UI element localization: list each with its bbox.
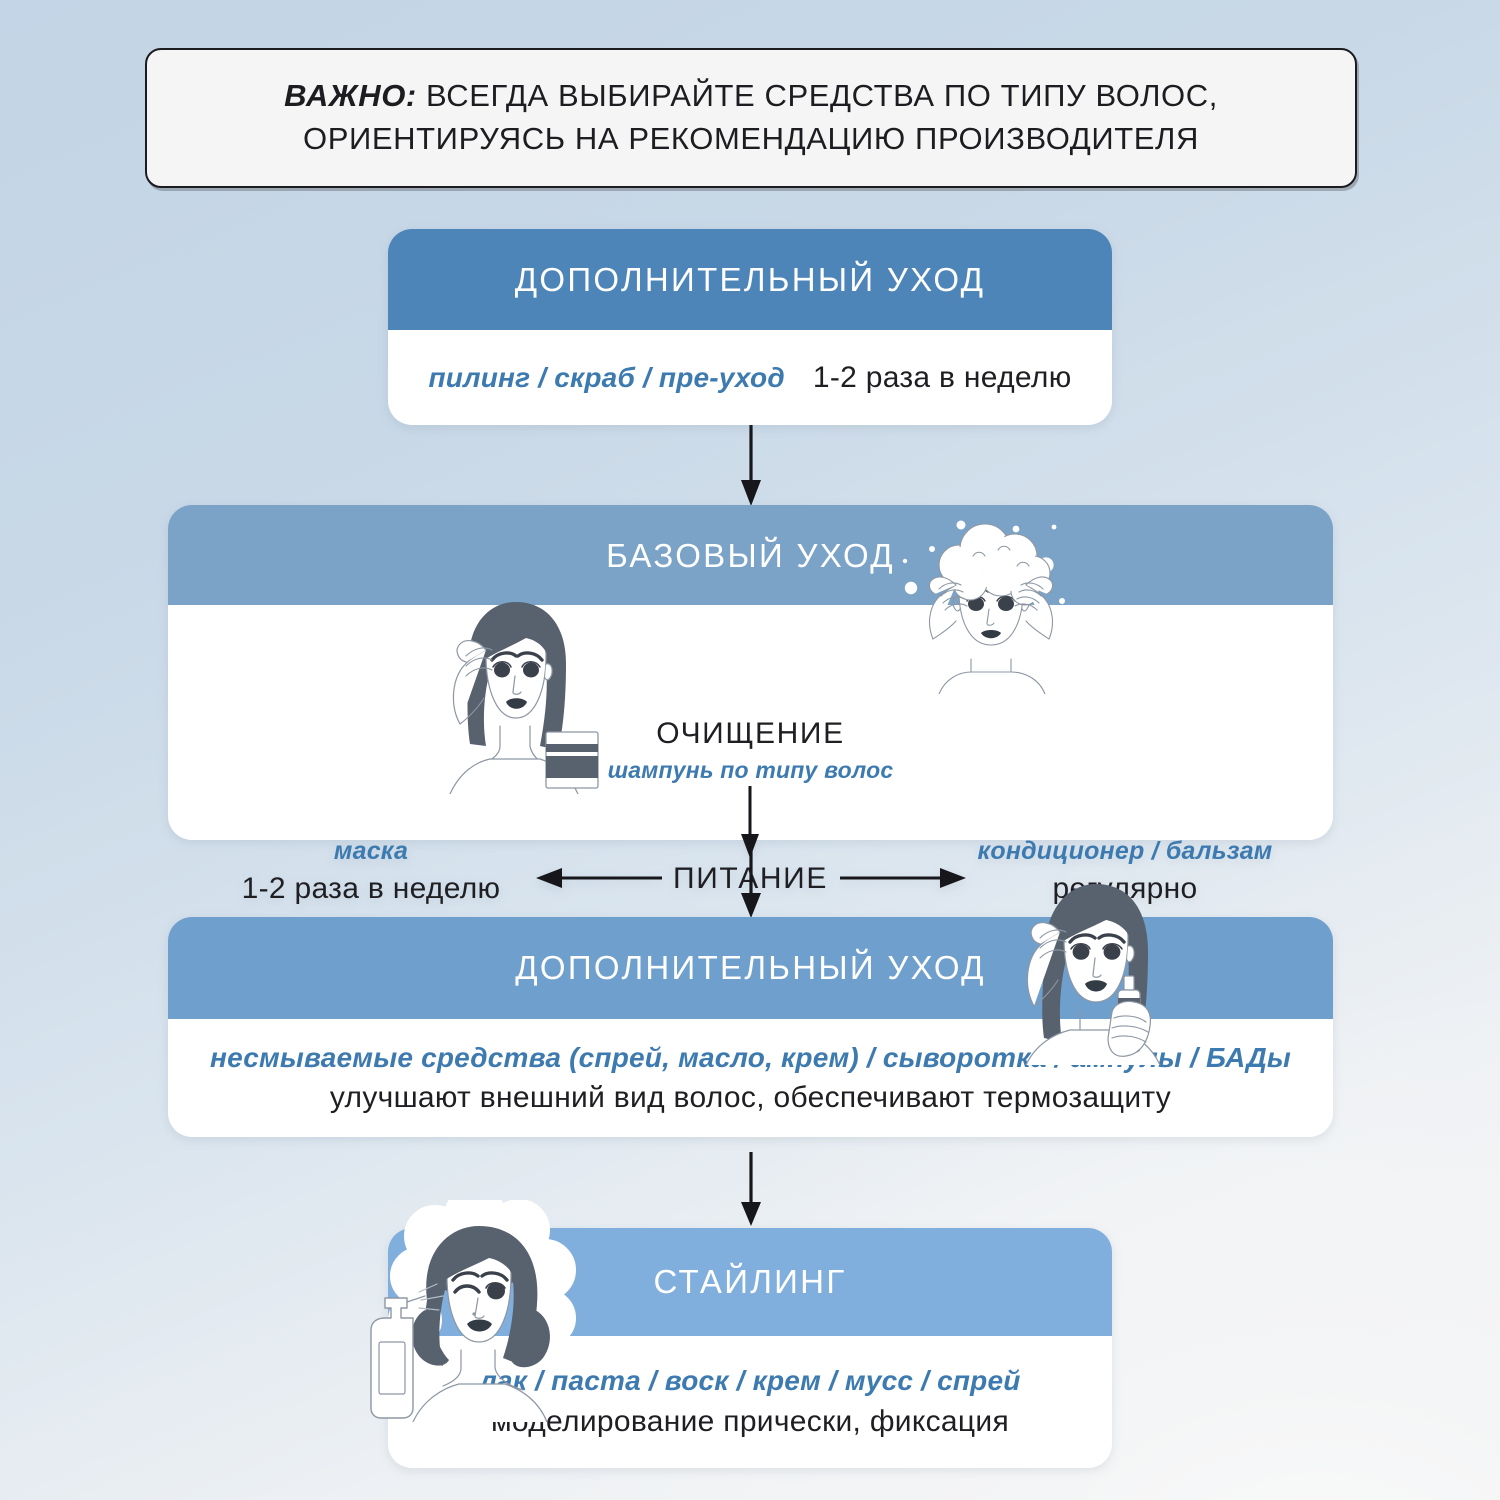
arrow-card2-to-card3 [735,838,767,920]
important-banner: ВАЖНО: ВСЕГДА ВЫБИРАЙТЕ СРЕДСТВА ПО ТИПУ… [145,48,1357,188]
card4-header: СТАЙЛИНГ [388,1228,1112,1336]
card4-body: лак / паста / воск / крем / мусс / спрей… [388,1336,1112,1468]
arrow-card3-to-card4 [735,1152,767,1228]
mask-frequency: 1-2 раза в неделю [206,872,536,906]
card-styling: СТАЙЛИНГ лак / паста / воск / крем / мус… [388,1228,1112,1468]
card2-header: БАЗОВЫЙ УХОД [168,505,1333,605]
card3-products: несмываемые средства (спрей, масло, крем… [210,1042,1291,1074]
card-basic-care: БАЗОВЫЙ УХОД ОЧИЩЕНИЕ шампунь по типу во… [168,505,1333,840]
card-extra-care-top: ДОПОЛНИТЕЛЬНЫЙ УХОД пилинг / скраб / пре… [388,229,1112,425]
cleansing-products: шампунь по типу волос [168,757,1333,784]
card4-description: моделирование прически, фиксация [491,1405,1009,1439]
banner-body-label: ВСЕГДА ВЫБИРАЙТЕ СРЕДСТВА ПО ТИПУ ВОЛОС,… [303,78,1218,156]
banner-text: ВАЖНО: ВСЕГДА ВЫБИРАЙТЕ СРЕДСТВА ПО ТИПУ… [147,75,1355,161]
cleansing-block: ОЧИЩЕНИЕ шампунь по типу волос [168,717,1333,784]
card3-title: ДОПОЛНИТЕЛЬНЫЙ УХОД [515,949,986,987]
conditioner-block: кондиционер / бальзам регулярно [945,837,1305,906]
card2-body: ОЧИЩЕНИЕ шампунь по типу волос ПИТАНИЕ [168,605,1333,840]
mask-products: маска [206,837,536,866]
card1-title: ДОПОЛНИТЕЛЬНЫЙ УХОД [515,261,986,299]
card3-header: ДОПОЛНИТЕЛЬНЫЙ УХОД [168,917,1333,1019]
conditioner-frequency: регулярно [945,872,1305,906]
card4-products: лак / паста / воск / крем / мусс / спрей [479,1365,1020,1397]
banner-lead-label: ВАЖНО: [284,78,417,113]
card2-title: БАЗОВЫЙ УХОД [606,537,895,575]
mask-block: маска 1-2 раза в неделю [206,837,536,906]
card1-frequency: 1-2 раза в неделю [813,361,1072,395]
card-extra-care-bottom: ДОПОЛНИТЕЛЬНЫЙ УХОД несмываемые средства… [168,917,1333,1137]
card3-body: несмываемые средства (спрей, масло, крем… [168,1019,1333,1137]
cleansing-label: ОЧИЩЕНИЕ [168,717,1333,751]
card3-description: улучшают внешний вид волос, обеспечивают… [330,1081,1171,1115]
arrow-card1-to-card2 [735,424,767,508]
arrow-nutrition-to-mask [534,863,662,893]
conditioner-products: кондиционер / бальзам [945,837,1305,866]
card1-body: пилинг / скраб / пре-уход 1-2 раза в нед… [388,330,1112,425]
card1-header: ДОПОЛНИТЕЛЬНЫЙ УХОД [388,229,1112,330]
card4-title: СТАЙЛИНГ [653,1263,846,1301]
card1-products: пилинг / скраб / пре-уход [428,362,784,394]
infographic-canvas: ВАЖНО: ВСЕГДА ВЫБИРАЙТЕ СРЕДСТВА ПО ТИПУ… [0,0,1500,1500]
